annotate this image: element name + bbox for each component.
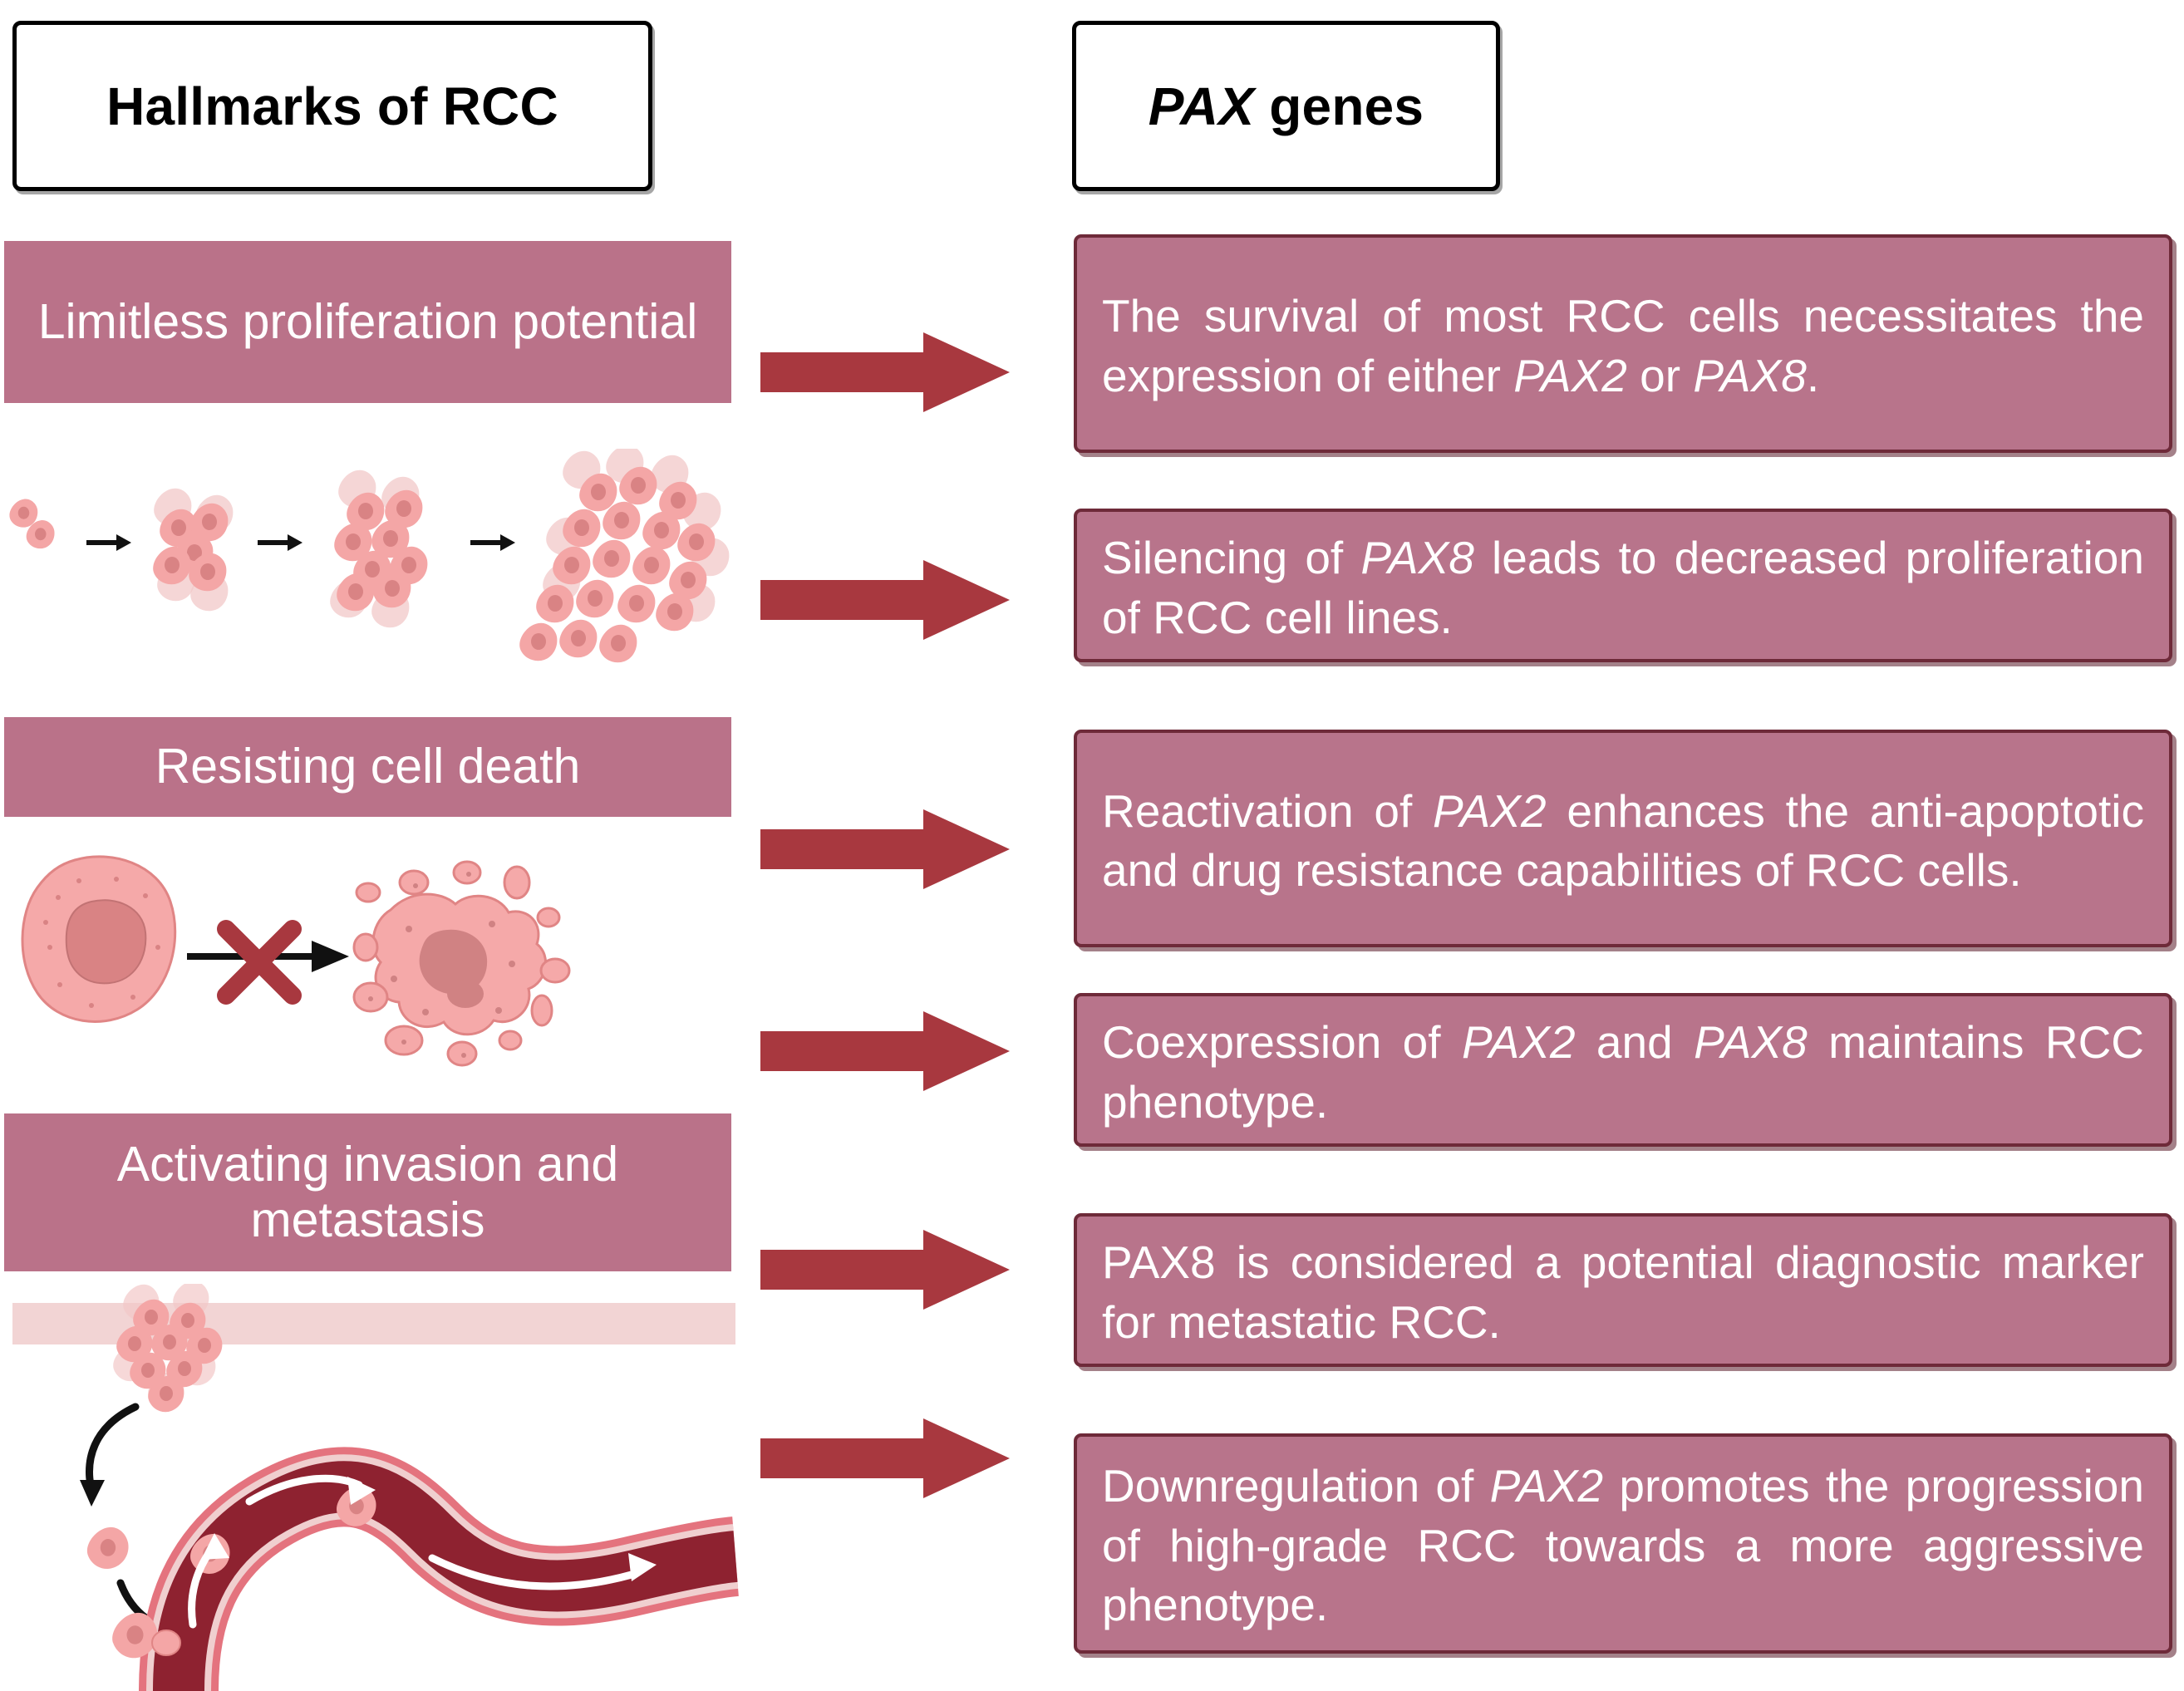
statement-run: Downregulation of	[1102, 1460, 1490, 1512]
pax-title-plain: genes	[1254, 76, 1424, 136]
gene-name: PAX2	[1462, 1016, 1576, 1068]
cell-cluster-stage-1	[9, 499, 54, 549]
pax-genes-title-text: PAX genes	[1149, 76, 1424, 137]
connector-arrow-to-silencing	[760, 558, 1010, 641]
pax-genes-title-box: PAX genes	[1072, 21, 1500, 191]
connector-arrow-to-survival	[760, 331, 1010, 414]
statement-run: Reactivation of	[1102, 785, 1433, 837]
statement-text: Reactivation of PAX2 enhances the anti-a…	[1102, 782, 2144, 901]
statement-panel-downregulation-pax2: Downregulation of PAX2 promotes the prog…	[1074, 1433, 2172, 1654]
proliferation-step-arrow	[86, 534, 131, 551]
connector-arrow-to-reactivation	[760, 808, 1010, 891]
statement-text: The survival of most RCC cells necessita…	[1102, 287, 2144, 406]
apoptotic-cell-fragments	[354, 862, 569, 1065]
proliferation-step-arrow	[470, 534, 515, 551]
dissemination-arrow-1	[90, 1407, 135, 1490]
statement-panel-silencing-pax8: Silencing of PAX8 leads to decreased pro…	[1074, 509, 2172, 662]
statement-run: and	[1576, 1016, 1695, 1068]
hallmark-label: Limitless proliferation potential	[38, 294, 698, 350]
cell-cluster-stage-3	[330, 470, 427, 628]
hallmarks-title-text: Hallmarks of RCC	[106, 76, 558, 137]
cell-cluster-stage-4	[519, 449, 729, 662]
statement-text: Silencing of PAX8 leads to decreased pro…	[1102, 528, 2144, 647]
hallmarks-title-box: Hallmarks of RCC	[12, 21, 652, 191]
gene-name: PAX2	[1490, 1460, 1604, 1512]
statement-run: Silencing of	[1102, 532, 1360, 583]
hallmark-bar-resisting-cell-death: Resisting cell death	[4, 717, 731, 817]
connector-arrow-to-coexpression	[760, 1010, 1010, 1093]
statement-panel-survival-pax2-pax8: The survival of most RCC cells necessita…	[1074, 234, 2172, 453]
blocked-x-icon	[226, 929, 293, 995]
hallmark-bar-limitless-proliferation: Limitless proliferation potential	[4, 241, 731, 403]
pax-title-italic: PAX	[1149, 76, 1254, 136]
gene-name: PAX8	[1693, 350, 1807, 401]
gene-name: PAX2	[1433, 785, 1547, 837]
apoptosis-blocked-illustration	[0, 831, 598, 1080]
gene-name: PAX8	[1694, 1016, 1808, 1068]
statement-panel-coexpression: Coexpression of PAX2 and PAX8 maintains …	[1074, 993, 2172, 1147]
healthy-cell	[22, 857, 175, 1022]
disseminated-tumour-cell	[87, 1527, 129, 1569]
blood-vessel	[179, 1487, 735, 1691]
hallmark-label: Resisting cell death	[155, 739, 581, 794]
connector-arrow-to-downregulation	[760, 1417, 1010, 1500]
cell-cluster-stage-2	[153, 489, 233, 612]
statement-run: or	[1627, 350, 1693, 401]
statement-text: PAX8 is considered a potential diagnosti…	[1102, 1233, 2144, 1352]
statement-panel-reactivation-pax2: Reactivation of PAX2 enhances the anti-a…	[1074, 730, 2172, 947]
hallmark-label: Activating invasion and metastasis	[16, 1137, 720, 1249]
gene-name: PAX2	[1513, 350, 1627, 401]
statement-run: .	[1807, 350, 1819, 401]
hallmark-bar-activating-invasion: Activating invasion and metastasis	[4, 1113, 731, 1271]
statement-text: Coexpression of PAX2 and PAX8 maintains …	[1102, 1013, 2144, 1132]
statement-run: Coexpression of	[1102, 1016, 1462, 1068]
connector-arrow-to-diagnostic	[760, 1228, 1010, 1311]
statement-text: Downregulation of PAX2 promotes the prog…	[1102, 1457, 2144, 1635]
dissemination-arrow-1-head	[80, 1480, 105, 1507]
statement-panel-diagnostic-marker: PAX8 is considered a potential diagnosti…	[1074, 1213, 2172, 1367]
gene-name: PAX8	[1360, 532, 1474, 583]
intravasation-vessel-illustration	[0, 1284, 748, 1691]
statement-run: PAX8 is considered a potential diagnosti…	[1102, 1236, 2144, 1348]
cell-proliferation-illustration	[0, 449, 748, 690]
proliferation-step-arrow	[258, 534, 303, 551]
